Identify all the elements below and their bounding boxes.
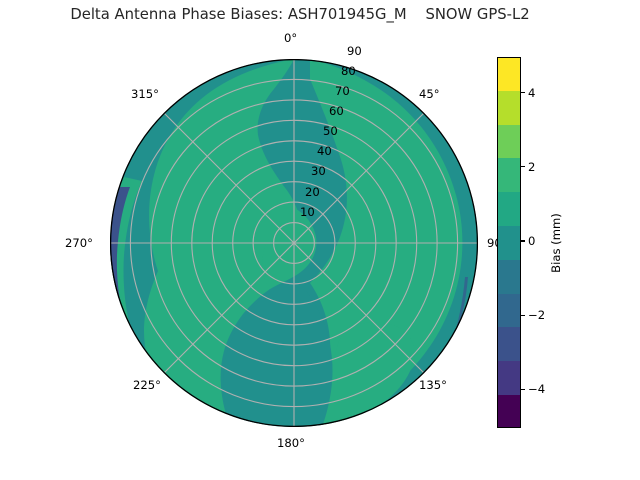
radial-tick-70: 70 xyxy=(335,84,350,98)
angle-tick-315: 315° xyxy=(131,87,159,101)
polar-grid-spokes xyxy=(110,59,478,427)
colorbar-tick-label-2: 2 xyxy=(528,160,535,174)
angle-tick-180: 180° xyxy=(277,436,305,450)
angle-tick-270: 270° xyxy=(65,236,93,250)
colorbar-tick-label-m2: −2 xyxy=(528,308,545,322)
radial-tick-20: 20 xyxy=(305,185,320,199)
colorbar-tick-mark-2 xyxy=(521,166,525,167)
angle-tick-225: 225° xyxy=(133,378,161,392)
radial-tick-60: 60 xyxy=(329,104,344,118)
angle-tick-135: 135° xyxy=(419,378,447,392)
page-title: Delta Antenna Phase Biases: ASH701945G_M… xyxy=(0,6,600,23)
colorbar-tick-label-4: 4 xyxy=(528,86,535,100)
angle-tick-0: 0° xyxy=(284,31,297,45)
radial-tick-50: 50 xyxy=(323,124,338,138)
radial-tick-30: 30 xyxy=(311,164,326,178)
colorbar-tick-mark-m4 xyxy=(521,389,525,390)
colorbar-tick-label-0: 0 xyxy=(528,234,535,248)
colorbar-tick-mark-m2 xyxy=(521,315,525,316)
colorbar-tick-label-m4: −4 xyxy=(528,382,545,396)
colorbar-axis-label: Bias (mm) xyxy=(549,213,563,273)
polar-axes xyxy=(110,59,478,427)
radial-tick-10: 10 xyxy=(300,205,315,219)
radial-tick-80: 80 xyxy=(341,64,356,78)
colorbar[interactable]: 4 2 0 −2 −4 xyxy=(497,57,521,428)
polar-chart-figure: Delta Antenna Phase Biases: ASH701945G_M… xyxy=(0,0,640,480)
radial-tick-90: 90 xyxy=(347,44,362,58)
polar-plot-svg xyxy=(110,59,478,427)
angle-tick-45: 45° xyxy=(419,87,440,101)
radial-tick-40: 40 xyxy=(317,144,332,158)
colorbar-tick-mark-0 xyxy=(521,240,525,241)
colorbar-outline xyxy=(497,57,521,428)
colorbar-tick-mark-4 xyxy=(521,92,525,93)
